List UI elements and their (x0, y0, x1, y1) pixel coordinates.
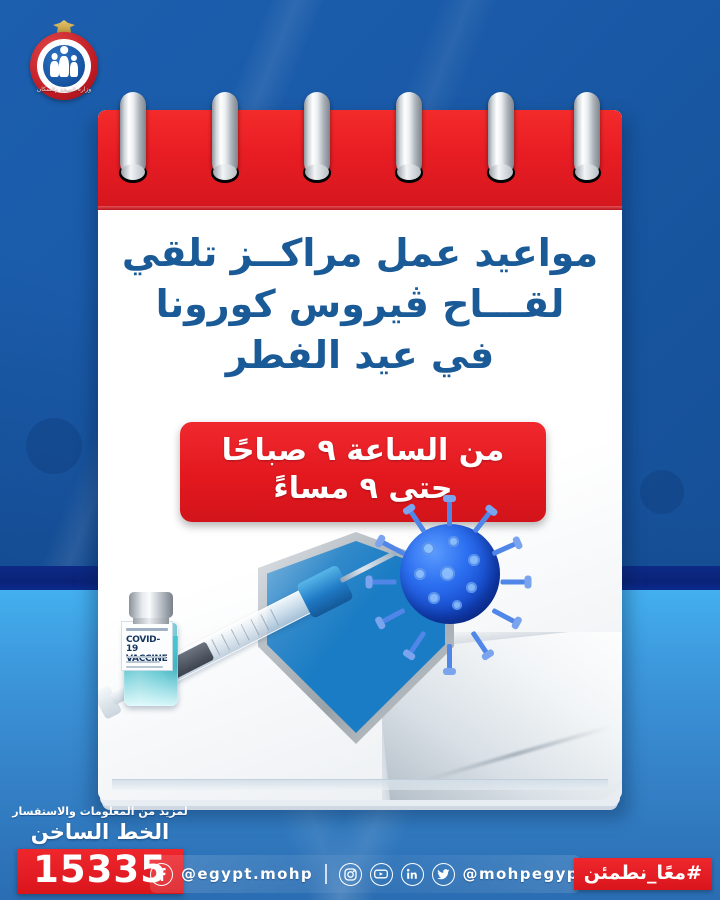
vial-cap (129, 592, 173, 618)
vial-label-line-1: COVID-19 (126, 635, 160, 654)
family-figure-icon (70, 62, 78, 77)
syringe-needle (340, 550, 398, 583)
virus-watermark (26, 418, 82, 474)
hotline-subtitle: لمزيد من المعلومات والاستفسار (10, 805, 190, 818)
binding-ring (396, 92, 422, 176)
calendar-card: مواعيد عمل مراكــز تلقي لقـــاح ڤيروس كو… (98, 110, 622, 810)
social-bar: @egypt.mohp @m (150, 855, 580, 893)
twitter-icon[interactable] (432, 863, 455, 886)
instagram-icon[interactable] (339, 863, 362, 886)
vaccine-vial: COVID-19 VACCINE (120, 592, 182, 708)
illustration-area: COVID-19 VACCINE (98, 510, 622, 800)
family-figure-icon (59, 56, 69, 77)
hotline-title: الخط الساخن (10, 820, 190, 844)
campaign-hashtag[interactable]: #معًا_نطمئن (574, 858, 712, 890)
infographic-poster: وزارة الصحة والسكان مواعيد عمل مراكــز ت… (0, 0, 720, 900)
ministry-logo: وزارة الصحة والسكان (26, 20, 102, 102)
headline-line-1: مواعيد عمل مراكــز تلقي (112, 228, 608, 279)
group-handle[interactable]: @mohpegypt (463, 865, 588, 883)
linkedin-icon[interactable] (401, 863, 424, 886)
headline-line-2: لقـــاح ڤيروس كورونا (112, 279, 608, 330)
logo-caption: وزارة الصحة والسكان (32, 82, 96, 98)
social-divider (325, 864, 327, 884)
binding-ring (120, 92, 146, 176)
binding-ring (304, 92, 330, 176)
hours-line-1: من الساعة ٩ صباحًا (180, 432, 546, 470)
headline: مواعيد عمل مراكــز تلقي لقـــاح ڤيروس كو… (112, 228, 608, 381)
vial-label: COVID-19 VACCINE (122, 622, 172, 670)
family-figure-icon (50, 61, 59, 77)
facebook-icon[interactable] (150, 863, 173, 886)
headline-line-3: في عيد الفطر (112, 330, 608, 381)
card-body: مواعيد عمل مراكــز تلقي لقـــاح ڤيروس كو… (98, 110, 622, 800)
binding-ring (574, 92, 600, 176)
logo-inner-circle (43, 45, 85, 87)
illustration-floor-line (112, 779, 608, 790)
binding-ring (488, 92, 514, 176)
binding-ring (212, 92, 238, 176)
facebook-handle[interactable]: @egypt.mohp (181, 865, 313, 883)
virus-watermark (640, 470, 684, 514)
calendar-header-band (98, 110, 622, 210)
youtube-icon[interactable] (370, 863, 393, 886)
hours-line-2: حتى ٩ مساءً (180, 470, 546, 508)
